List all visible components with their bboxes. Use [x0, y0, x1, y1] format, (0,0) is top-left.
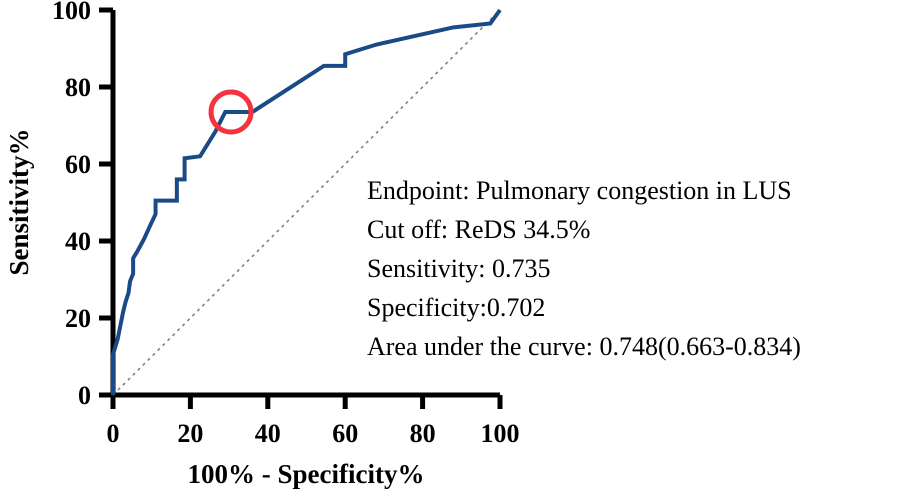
x-axis-title: 100% - Specificity%: [188, 459, 425, 489]
y-tick-label-40: 40: [65, 227, 91, 256]
y-tick-label-60: 60: [65, 150, 91, 179]
x-tick-label-20: 20: [177, 419, 203, 448]
y-tick-label-80: 80: [65, 73, 91, 102]
annotation-line-2: Cut off: ReDS 34.5%: [367, 215, 590, 244]
annotation-text-block: Endpoint: Pulmonary congestion in LUSCut…: [367, 176, 801, 361]
x-tick-label-60: 60: [332, 419, 358, 448]
y-axis-tick-labels: 020406080100: [52, 0, 91, 410]
annotation-line-1: Endpoint: Pulmonary congestion in LUS: [367, 176, 792, 205]
annotation-line-3: Sensitivity: 0.735: [367, 254, 550, 283]
x-tick-label-80: 80: [410, 419, 436, 448]
y-tick-label-20: 20: [65, 304, 91, 333]
y-tick-label-100: 100: [52, 0, 91, 25]
y-axis-title: Sensitivity%: [4, 128, 34, 275]
roc-chart-svg: 020406080100 020406080100 100% - Specifi…: [0, 0, 905, 499]
annotation-line-5: Area under the curve: 0.748(0.663-0.834): [367, 332, 801, 361]
roc-figure: 020406080100 020406080100 100% - Specifi…: [0, 0, 905, 499]
annotation-line-4: Specificity:0.702: [367, 293, 545, 322]
x-tick-label-40: 40: [255, 419, 281, 448]
y-tick-label-0: 0: [78, 381, 91, 410]
x-tick-label-100: 100: [481, 419, 520, 448]
x-axis-tick-labels: 020406080100: [107, 419, 520, 448]
x-tick-label-0: 0: [107, 419, 120, 448]
